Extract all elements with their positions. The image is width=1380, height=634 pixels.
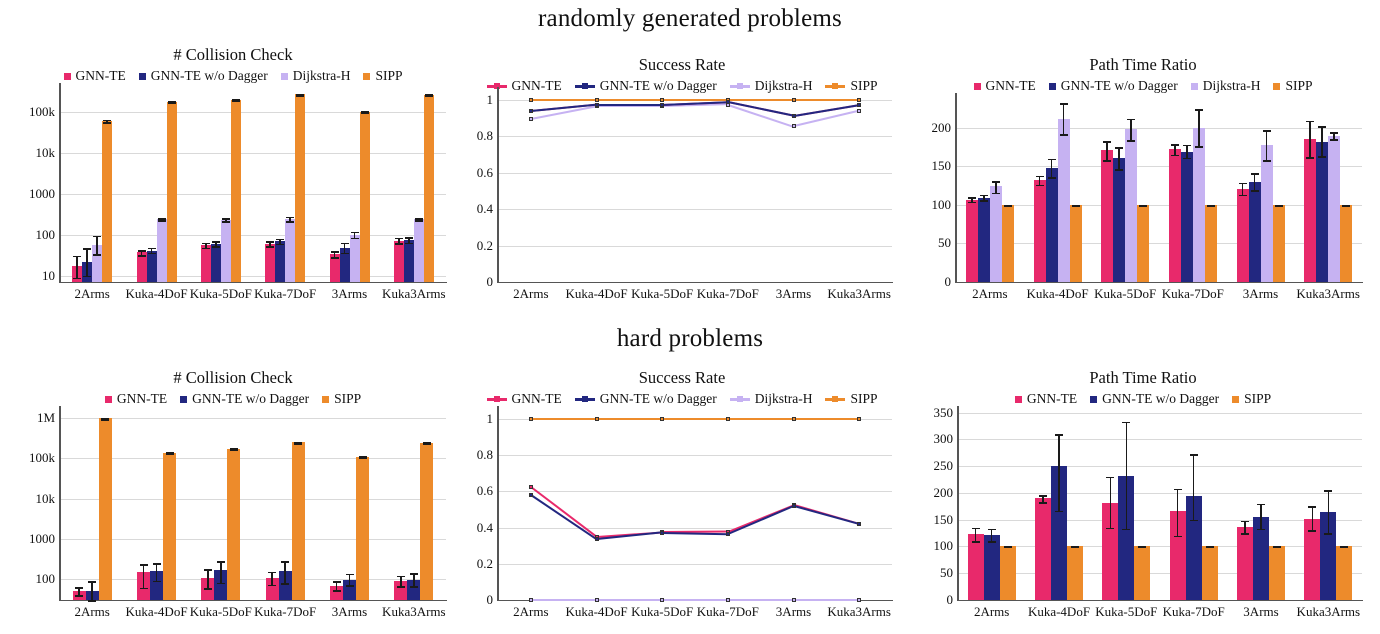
data-point-marker xyxy=(595,537,599,541)
error-bar xyxy=(1126,422,1128,529)
legend-item[interactable]: Dijkstra-H xyxy=(281,68,351,84)
line-segment xyxy=(531,599,597,601)
x-axis-tick-label: Kuka-5DoF xyxy=(1094,282,1156,302)
error-bar-cap xyxy=(1103,141,1111,143)
error-bar-cap xyxy=(1308,530,1316,532)
legend-label: SIPP xyxy=(850,391,877,407)
legend-square-swatch xyxy=(1232,396,1239,403)
bar xyxy=(227,449,240,600)
data-point-marker xyxy=(857,103,861,107)
error-bar-cap xyxy=(415,220,423,222)
error-bar-cap xyxy=(281,583,289,585)
legend-label: Dijkstra-H xyxy=(755,391,813,407)
error-bar xyxy=(86,248,88,276)
gridline xyxy=(498,246,892,247)
x-axis-tick-label: Kuka-7DoF xyxy=(254,600,316,620)
y-axis-tick-label: 300 xyxy=(914,431,953,447)
line-segment xyxy=(530,486,597,537)
line-segment xyxy=(662,532,728,535)
data-point-marker xyxy=(660,417,664,421)
error-bar-cap xyxy=(1263,130,1271,132)
line-segment xyxy=(728,418,794,420)
error-bar-cap xyxy=(1324,533,1332,535)
error-bar-cap xyxy=(1183,158,1191,160)
error-bar-cap xyxy=(1251,173,1259,175)
error-bar xyxy=(349,574,351,585)
legend-label: GNN-TE xyxy=(986,78,1036,94)
y-axis-tick-label: 0 xyxy=(464,274,493,290)
y-axis-tick-label: 1 xyxy=(464,411,493,427)
data-point-marker xyxy=(529,493,533,497)
error-bar-cap xyxy=(1048,177,1056,179)
error-bar xyxy=(156,563,158,581)
error-bar-cap xyxy=(351,232,359,234)
x-axis-tick-label: Kuka-7DoF xyxy=(697,600,759,620)
data-point-marker xyxy=(595,98,599,102)
x-axis-tick-label: Kuka-4DoF xyxy=(565,282,627,302)
error-bar-cap xyxy=(1115,169,1123,171)
error-bar-cap xyxy=(1055,511,1063,513)
line-segment xyxy=(728,99,794,101)
gridline xyxy=(498,455,892,456)
section-title-hard: hard problems xyxy=(0,325,1380,353)
y-axis-tick-label: 350 xyxy=(914,405,953,421)
legend-item[interactable]: SIPP xyxy=(1232,391,1271,407)
x-axis-tick-label: 3Arms xyxy=(332,600,367,620)
error-bar-cap xyxy=(1190,454,1198,456)
legend-square-swatch xyxy=(139,73,146,80)
error-bar-cap xyxy=(1122,422,1130,424)
y-axis-tick-label: 1 xyxy=(464,92,493,108)
line-segment xyxy=(597,599,663,601)
error-bar xyxy=(1198,109,1200,146)
data-point-marker xyxy=(529,98,533,102)
x-axis-tick-label: Kuka-7DoF xyxy=(254,282,316,302)
legend-item[interactable]: GNN-TE xyxy=(1015,391,1077,407)
error-bar-cap xyxy=(75,587,83,589)
error-bar-cap xyxy=(359,457,367,459)
error-bar-cap xyxy=(138,255,146,257)
error-bar-cap xyxy=(333,590,341,592)
error-bar-cap xyxy=(202,243,210,245)
plot-area: 100100010k100k1M2ArmsKuka-4DoFKuka-5DoFK… xyxy=(60,410,446,600)
error-bar xyxy=(995,181,997,193)
error-bar-cap xyxy=(268,572,276,574)
error-bar-cap xyxy=(158,220,166,222)
legend-item[interactable]: GNN-TE xyxy=(974,78,1036,94)
bar xyxy=(1137,205,1149,282)
data-point-marker xyxy=(857,109,861,113)
data-point-marker xyxy=(529,598,533,602)
error-bar-cap xyxy=(395,238,403,240)
gridline xyxy=(60,458,446,459)
y-axis-tick-label: 200 xyxy=(914,485,953,501)
legend-item[interactable]: SIPP xyxy=(825,391,877,407)
legend-item[interactable]: Dijkstra-H xyxy=(1191,78,1261,94)
section-title-randomly-generated: randomly generated problems xyxy=(0,5,1380,33)
plot-area: 0501001502002503003502ArmsKuka-4DoFKuka-… xyxy=(958,410,1362,600)
error-bar-cap xyxy=(1122,529,1130,531)
gridline xyxy=(60,418,446,419)
bar xyxy=(275,241,285,282)
gridline xyxy=(498,528,892,529)
error-bar-cap xyxy=(230,449,238,451)
line-segment xyxy=(662,599,728,601)
bar xyxy=(1328,136,1340,282)
gridline xyxy=(956,205,1362,206)
y-axis-tick-label: 100k xyxy=(10,450,55,466)
data-point-marker xyxy=(792,598,796,602)
y-axis-tick-label: 0 xyxy=(914,274,951,290)
error-bar-cap xyxy=(1103,160,1111,162)
error-bar-cap xyxy=(1174,536,1182,538)
bar xyxy=(201,245,211,282)
error-bar xyxy=(1266,130,1268,160)
bar xyxy=(147,251,157,282)
legend-label: GNN-TE xyxy=(512,391,562,407)
error-bar xyxy=(1058,434,1060,511)
x-axis-tick-label: Kuka3Arms xyxy=(382,282,446,302)
legend-label: SIPP xyxy=(1285,78,1312,94)
error-bar-cap xyxy=(1183,145,1191,147)
y-axis-tick-label: 10k xyxy=(10,145,55,161)
error-bar-cap xyxy=(980,195,988,197)
error-bar-cap xyxy=(1308,506,1316,508)
legend-item[interactable]: GNN-TE w/o Dagger xyxy=(1049,78,1178,94)
x-axis-tick-label: Kuka-5DoF xyxy=(1095,600,1157,620)
bar xyxy=(1113,158,1125,282)
error-bar-cap xyxy=(1207,205,1215,207)
line-segment xyxy=(793,104,859,117)
legend-square-swatch xyxy=(1015,396,1022,403)
error-bar xyxy=(1110,477,1112,528)
error-bar-cap xyxy=(212,246,220,248)
x-axis-tick-label: 2Arms xyxy=(513,600,548,620)
y-axis-tick-label: 250 xyxy=(914,458,953,474)
legend-line-swatch xyxy=(575,398,595,401)
error-bar-cap xyxy=(341,243,349,245)
x-axis-tick-label: Kuka-5DoF xyxy=(631,282,693,302)
line-segment xyxy=(597,99,663,101)
bar xyxy=(1002,205,1014,282)
legend-item[interactable]: GNN-TE xyxy=(105,391,167,407)
chart-title: Success Rate xyxy=(462,55,902,75)
x-axis-tick-label: Kuka-5DoF xyxy=(190,600,252,620)
legend-item[interactable]: GNN-TE w/o Dagger xyxy=(575,391,717,407)
error-bar-cap xyxy=(968,197,976,199)
data-point-marker xyxy=(857,98,861,102)
y-axis-tick-label: 100 xyxy=(10,571,55,587)
error-bar-cap xyxy=(1195,146,1203,148)
bar xyxy=(1046,168,1058,282)
legend-square-swatch xyxy=(363,73,370,80)
error-bar-cap xyxy=(1036,185,1044,187)
error-bar-cap xyxy=(1039,495,1047,497)
y-axis-tick-label: 1M xyxy=(10,410,55,426)
error-bar-cap xyxy=(1127,140,1135,142)
data-point-marker xyxy=(595,598,599,602)
legend-label: SIPP xyxy=(1244,391,1271,407)
x-axis-tick-label: Kuka-5DoF xyxy=(631,600,693,620)
y-axis-line xyxy=(955,93,957,282)
chart-legend: GNN-TEGNN-TE w/o DaggerDijkstra-HSIPP xyxy=(462,391,902,407)
error-bar-cap xyxy=(1036,176,1044,178)
y-axis-tick-label: 0.6 xyxy=(464,483,493,499)
error-bar-cap xyxy=(410,586,418,588)
error-bar-cap xyxy=(988,541,996,543)
error-bar-cap xyxy=(83,248,91,250)
gridline xyxy=(498,209,892,210)
error-bar-cap xyxy=(1127,119,1135,121)
chart-hard-success-rate: Success RateGNN-TEGNN-TE w/o DaggerDijks… xyxy=(462,368,902,628)
chart-legend: GNN-TEGNN-TE w/o DaggerDijkstra-HSIPP xyxy=(912,78,1374,94)
error-bar xyxy=(1186,145,1188,158)
bar xyxy=(137,252,147,282)
legend-item[interactable]: GNN-TE w/o Dagger xyxy=(139,68,268,84)
error-bar-cap xyxy=(217,583,225,585)
legend-square-swatch xyxy=(1273,83,1280,90)
error-bar-cap xyxy=(333,581,341,583)
error-bar xyxy=(1063,103,1065,134)
error-bar-cap xyxy=(296,95,304,97)
error-bar-cap xyxy=(1206,546,1214,548)
bar xyxy=(1035,498,1051,600)
error-bar-cap xyxy=(266,241,274,243)
error-bar xyxy=(1260,504,1262,529)
error-bar-cap xyxy=(222,218,230,220)
error-bar-cap xyxy=(217,561,225,563)
gridline xyxy=(956,166,1362,167)
error-bar-cap xyxy=(1340,546,1348,548)
error-bar-cap xyxy=(153,563,161,565)
bar xyxy=(1336,546,1352,600)
y-axis-tick-label: 0.4 xyxy=(464,520,493,536)
y-axis-tick-label: 0.2 xyxy=(464,238,493,254)
y-axis-line xyxy=(59,406,61,600)
error-bar-cap xyxy=(405,243,413,245)
legend-label: GNN-TE w/o Dagger xyxy=(151,68,268,84)
chart-title: Success Rate xyxy=(462,368,902,388)
error-bar-cap xyxy=(294,443,302,445)
chart-random-success-rate: Success RateGNN-TEGNN-TE w/o DaggerDijks… xyxy=(462,55,902,310)
bar xyxy=(1316,142,1328,282)
bar xyxy=(157,219,167,282)
error-bar-cap xyxy=(992,193,1000,195)
error-bar-cap xyxy=(138,250,146,252)
bar xyxy=(404,240,414,282)
error-bar-cap xyxy=(397,586,405,588)
error-bar-cap xyxy=(1239,183,1247,185)
legend-square-swatch xyxy=(322,396,329,403)
error-bar-cap xyxy=(1115,147,1123,149)
y-axis-tick-label: 100 xyxy=(914,197,951,213)
x-axis-tick-label: Kuka3Arms xyxy=(382,600,446,620)
error-bar xyxy=(1193,454,1195,519)
bar xyxy=(1134,546,1150,600)
error-bar-cap xyxy=(351,238,359,240)
y-axis-tick-label: 10k xyxy=(10,491,55,507)
data-point-marker xyxy=(792,124,796,128)
error-bar-cap xyxy=(1257,504,1265,506)
legend-item[interactable]: SIPP xyxy=(322,391,361,407)
legend-item[interactable]: SIPP xyxy=(1273,78,1312,94)
legend-item[interactable]: GNN-TE w/o Dagger xyxy=(1090,391,1219,407)
bar xyxy=(285,219,295,282)
error-bar xyxy=(1051,159,1053,178)
line-segment xyxy=(793,505,859,525)
legend-line-swatch xyxy=(575,85,595,88)
error-bar-cap xyxy=(1342,205,1350,207)
y-axis-line xyxy=(59,83,61,282)
bar xyxy=(360,112,370,282)
bar xyxy=(231,100,241,282)
legend-line-swatch xyxy=(730,398,750,401)
error-bar-cap xyxy=(1273,546,1281,548)
line-segment xyxy=(662,418,728,420)
error-bar xyxy=(207,569,209,589)
bar xyxy=(1340,205,1352,282)
error-bar-cap xyxy=(1139,205,1147,207)
error-bar xyxy=(413,573,415,586)
error-bar-cap xyxy=(423,443,431,445)
legend-label: GNN-TE w/o Dagger xyxy=(600,391,717,407)
error-bar-cap xyxy=(972,528,980,530)
error-bar-cap xyxy=(1106,477,1114,479)
y-axis-tick-label: 1000 xyxy=(10,186,55,202)
x-axis-tick-label: Kuka3Arms xyxy=(1296,282,1360,302)
error-bar-cap xyxy=(286,217,294,219)
error-bar-cap xyxy=(88,581,96,583)
chart-legend: GNN-TEGNN-TE w/o DaggerDijkstra-HSIPP xyxy=(8,68,458,84)
gridline xyxy=(498,173,892,174)
error-bar xyxy=(1118,147,1120,169)
error-bar-cap xyxy=(1306,121,1314,123)
bar xyxy=(1193,128,1205,282)
line-segment xyxy=(794,99,860,101)
data-point-marker xyxy=(529,109,533,113)
error-bar-cap xyxy=(397,576,405,578)
error-bar xyxy=(1254,173,1256,190)
error-bar-cap xyxy=(1324,490,1332,492)
x-axis-tick-label: Kuka-7DoF xyxy=(1163,600,1225,620)
y-axis-line xyxy=(497,87,499,282)
data-point-marker xyxy=(595,103,599,107)
error-bar-cap xyxy=(1004,205,1012,207)
gridline xyxy=(498,491,892,492)
y-axis-tick-label: 100k xyxy=(10,104,55,120)
error-bar xyxy=(76,256,78,278)
error-bar-cap xyxy=(148,253,156,255)
error-bar-cap xyxy=(341,253,349,255)
line-segment xyxy=(727,505,793,535)
error-bar-cap xyxy=(1071,546,1079,548)
bar xyxy=(990,186,1002,282)
error-bar-cap xyxy=(988,529,996,531)
bar xyxy=(221,220,231,282)
bar xyxy=(99,418,112,600)
bar xyxy=(1273,205,1285,282)
bar xyxy=(350,235,360,282)
error-bar-cap xyxy=(202,248,210,250)
legend-label: GNN-TE w/o Dagger xyxy=(1061,78,1178,94)
data-point-marker xyxy=(857,522,861,526)
legend-label: Dijkstra-H xyxy=(1203,78,1261,94)
error-bar-cap xyxy=(166,454,174,456)
x-axis-tick-label: 3Arms xyxy=(776,282,811,302)
x-axis-tick-label: 3Arms xyxy=(332,282,367,302)
legend-label: Dijkstra-H xyxy=(293,68,351,84)
y-axis-tick-label: 0.4 xyxy=(464,201,493,217)
error-bar-cap xyxy=(286,221,294,223)
legend-item[interactable]: GNN-TE xyxy=(64,68,126,84)
error-bar-cap xyxy=(1004,546,1012,548)
y-axis-tick-label: 50 xyxy=(914,565,953,581)
gridline xyxy=(60,235,446,236)
gridline xyxy=(498,564,892,565)
error-bar-cap xyxy=(93,236,101,238)
error-bar-cap xyxy=(1039,502,1047,504)
y-axis-tick-label: 50 xyxy=(914,235,951,251)
error-bar xyxy=(91,581,93,600)
gridline xyxy=(60,539,446,540)
y-axis-tick-label: 100 xyxy=(914,538,953,554)
data-point-marker xyxy=(529,417,533,421)
bar xyxy=(1237,527,1253,600)
error-bar xyxy=(991,529,993,541)
error-bar-cap xyxy=(1195,109,1203,111)
legend-item[interactable]: GNN-TE w/o Dagger xyxy=(180,391,309,407)
data-point-marker xyxy=(660,531,664,535)
legend-item[interactable]: GNN-TE xyxy=(487,391,562,407)
error-bar-cap xyxy=(83,276,91,278)
chart-random-collision-check: # Collision CheckGNN-TEGNN-TE w/o Dagger… xyxy=(8,45,458,310)
legend-item[interactable]: Dijkstra-H xyxy=(730,391,813,407)
error-bar-cap xyxy=(395,243,403,245)
data-point-marker xyxy=(726,598,730,602)
plot-area: 0501001502002ArmsKuka-4DoFKuka-5DoFKuka-… xyxy=(956,97,1362,282)
y-axis-tick-label: 0.8 xyxy=(464,128,493,144)
y-axis-tick-label: 150 xyxy=(914,158,951,174)
error-bar xyxy=(271,572,273,585)
line-segment xyxy=(728,599,794,601)
bar xyxy=(295,94,305,282)
error-bar xyxy=(1242,183,1244,195)
error-bar-cap xyxy=(222,221,230,223)
error-bar-cap xyxy=(140,588,148,590)
line-segment xyxy=(597,104,663,106)
error-bar-cap xyxy=(75,595,83,597)
bar xyxy=(163,453,176,600)
error-bar-cap xyxy=(168,102,176,104)
legend-item[interactable]: SIPP xyxy=(363,68,402,84)
error-bar-cap xyxy=(1048,159,1056,161)
bar xyxy=(978,198,990,282)
chart-random-path-time-ratio: Path Time RatioGNN-TEGNN-TE w/o DaggerDi… xyxy=(912,55,1374,310)
legend-label: GNN-TE w/o Dagger xyxy=(1102,391,1219,407)
x-axis-tick-label: Kuka-4DoF xyxy=(1026,282,1088,302)
y-axis-tick-label: 0 xyxy=(914,592,953,608)
legend-line-swatch xyxy=(825,85,845,88)
error-bar-cap xyxy=(73,278,81,280)
plot-area: 00.20.40.60.812ArmsKuka-4DoFKuka-5DoFKuk… xyxy=(498,91,892,282)
error-bar-cap xyxy=(1251,190,1259,192)
chart-hard-collision-check: # Collision CheckGNN-TEGNN-TE w/o Dagger… xyxy=(8,368,458,628)
error-bar-cap xyxy=(425,95,433,97)
legend-square-swatch xyxy=(1049,83,1056,90)
error-bar-cap xyxy=(232,100,240,102)
gridline xyxy=(956,243,1362,244)
error-bar-cap xyxy=(73,256,81,258)
